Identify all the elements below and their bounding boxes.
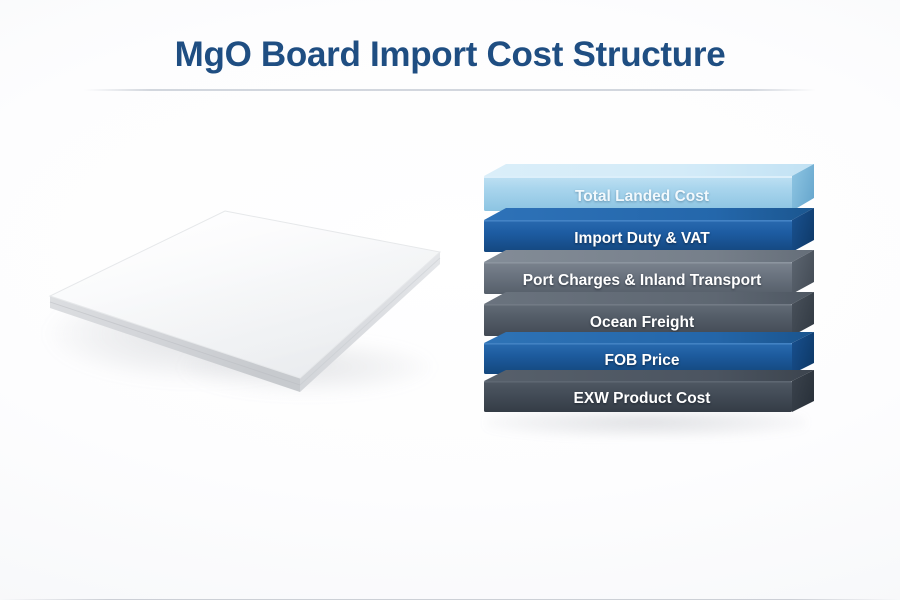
- cost-structure-stack: Total Landed Cost: [478, 164, 824, 436]
- slab-front-face-2: [484, 220, 792, 252]
- slab-top-face-5: [484, 332, 814, 343]
- slab-highlight-2: [484, 220, 792, 222]
- slab-top-face-1: [484, 164, 814, 176]
- slab-highlight-1: [484, 176, 792, 178]
- slab-top-face-4: [484, 292, 814, 304]
- slab-front-face-6: [484, 381, 792, 412]
- slide-header: MgO Board Import Cost Structure: [0, 0, 900, 92]
- board-sheen: [50, 211, 440, 378]
- slab-front-face-3: [484, 262, 792, 294]
- slab-highlight-6: [484, 381, 792, 383]
- mgo-board-figure: [22, 178, 462, 422]
- stack-layer-exw-product-cost[interactable]: EXW Product Cost: [478, 370, 824, 420]
- slab-highlight-5: [484, 343, 792, 345]
- slab-highlight-3: [484, 262, 792, 264]
- mgo-board-illustration: [22, 178, 462, 422]
- slab-highlight-4: [484, 304, 792, 306]
- slab-top-face-2: [484, 208, 814, 220]
- title-divider: [84, 89, 816, 91]
- slab-top-face-6: [484, 370, 814, 381]
- page-title: MgO Board Import Cost Structure: [0, 33, 900, 77]
- slide-canvas: MgO Board Import Cost Structure: [0, 0, 900, 600]
- slab-top-face-3: [484, 250, 814, 262]
- slab-front-face-1: [484, 176, 792, 211]
- slab-shape-exw-product-cost: [478, 370, 824, 422]
